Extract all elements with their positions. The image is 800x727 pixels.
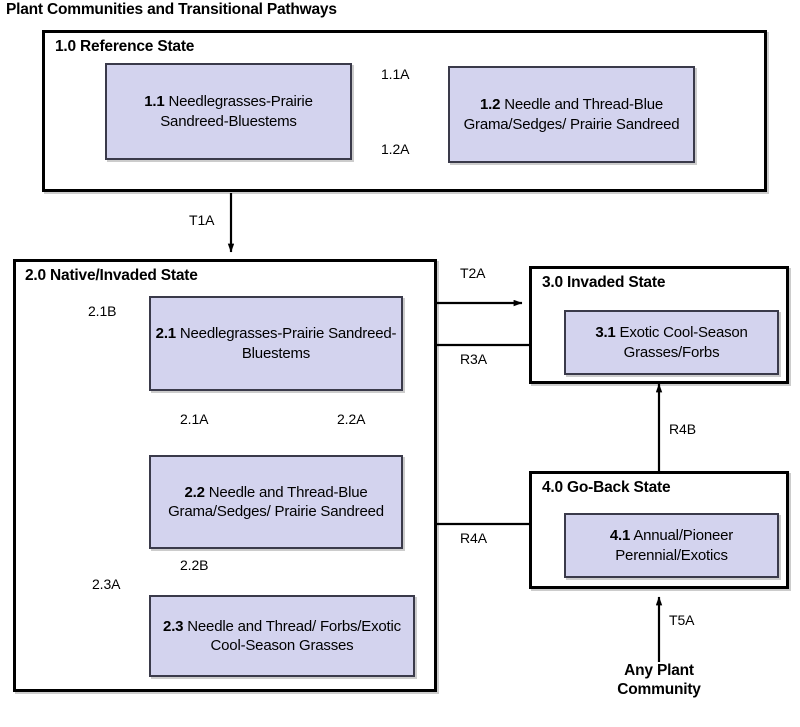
edge-label-2-3A: 2.3A [92, 576, 120, 592]
community-box-4-1[interactable]: 4.1 Annual/Pioneer Perennial/Exotics [564, 513, 779, 578]
state-label-invaded: 3.0 Invaded State [542, 274, 665, 292]
community-name-2-1: Needlegrasses-Prairie Sandreed-Bluestems [180, 325, 396, 361]
community-name-3-1: Exotic Cool-Season Grasses/Forbs [620, 324, 748, 360]
community-num-2-3: 2.3 [163, 618, 183, 635]
community-name-1-1: Needlegrasses-Prairie Sandreed-Bluestems [160, 93, 312, 129]
community-num-2-1: 2.1 [156, 325, 176, 342]
community-box-2-3[interactable]: 2.3 Needle and Thread/ Forbs/Exotic Cool… [149, 595, 415, 677]
edge-label-T2A: T2A [460, 265, 485, 281]
edge-label-R4A: R4A [460, 530, 487, 546]
state-label-native-invaded: 2.0 Native/Invaded State [25, 267, 198, 285]
edge-label-2-2B: 2.2B [180, 557, 208, 573]
community-box-3-1[interactable]: 3.1 Exotic Cool-Season Grasses/Forbs [564, 310, 779, 375]
page-title: Plant Communities and Transitional Pathw… [6, 1, 337, 19]
community-box-1-2[interactable]: 1.2 Needle and Thread-Blue Grama/Sedges/… [448, 66, 695, 163]
community-box-2-2[interactable]: 2.2 Needle and Thread-Blue Grama/Sedges/… [149, 455, 403, 549]
edge-label-2-2A: 2.2A [337, 411, 365, 427]
edge-label-T1A: T1A [189, 212, 214, 228]
edge-label-2-1B: 2.1B [88, 303, 116, 319]
state-label-go-back: 4.0 Go-Back State [542, 479, 670, 497]
community-name-4-1: Annual/Pioneer Perennial/Exotics [615, 527, 733, 563]
diagram-canvas: Plant Communities and Transitional Pathw… [0, 0, 800, 727]
edge-label-1-2A: 1.2A [381, 141, 409, 157]
community-box-2-1[interactable]: 2.1 Needlegrasses-Prairie Sandreed-Blues… [149, 296, 403, 391]
edge-label-R4B: R4B [669, 421, 696, 437]
community-num-1-1: 1.1 [144, 93, 164, 110]
community-num-1-2: 1.2 [480, 96, 500, 113]
edge-label-1-1A: 1.1A [381, 66, 409, 82]
state-label-reference: 1.0 Reference State [55, 38, 194, 56]
edge-label-2-1A: 2.1A [180, 411, 208, 427]
community-num-3-1: 3.1 [595, 324, 615, 341]
edge-label-R3A: R3A [460, 351, 487, 367]
community-name-2-3: Needle and Thread/ Forbs/Exotic Cool-Sea… [187, 618, 401, 654]
external-node-any-plant-community: Any Plant Community [589, 662, 729, 700]
community-num-2-2: 2.2 [184, 484, 204, 501]
community-num-4-1: 4.1 [610, 527, 630, 544]
edge-label-T5A: T5A [669, 612, 694, 628]
community-box-1-1[interactable]: 1.1 Needlegrasses-Prairie Sandreed-Blues… [105, 63, 352, 160]
